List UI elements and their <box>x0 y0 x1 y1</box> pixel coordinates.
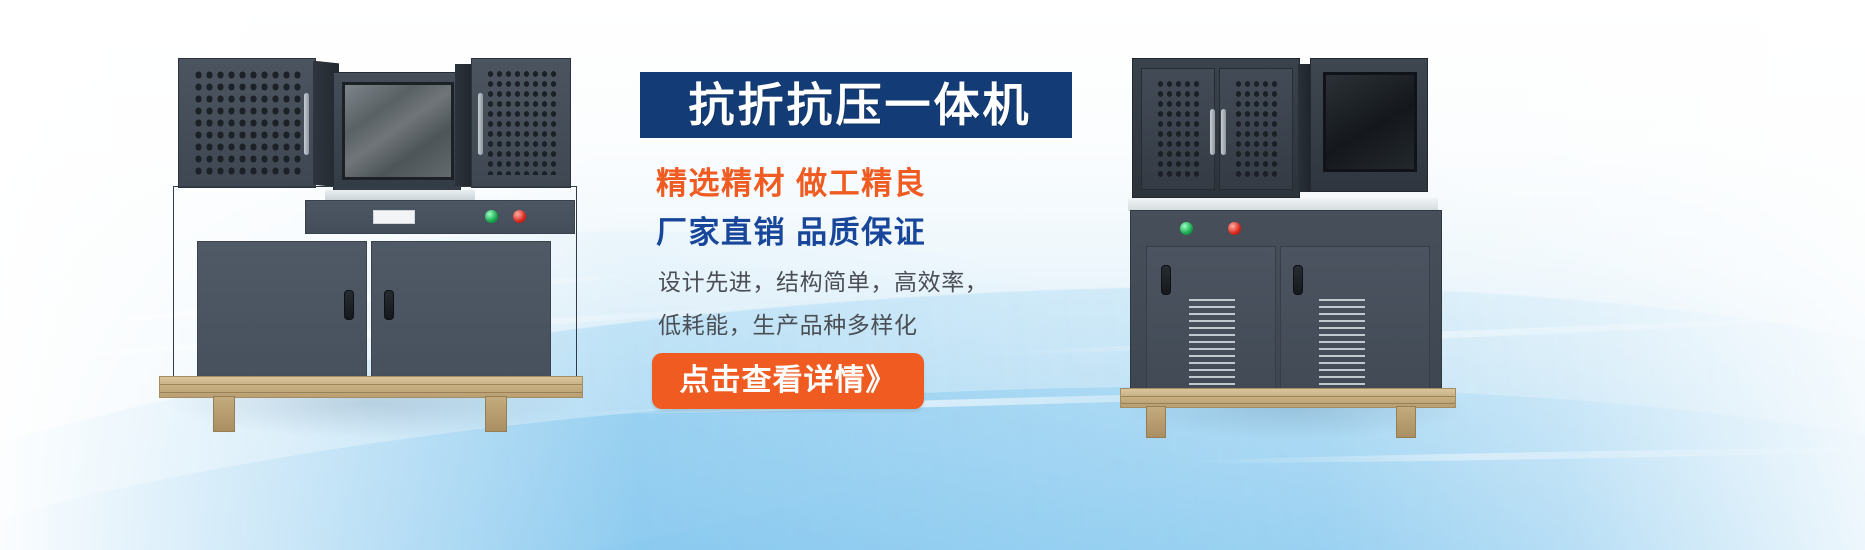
door-handle <box>1161 265 1171 295</box>
panel-label <box>373 210 415 224</box>
cabinet-handle <box>478 93 483 155</box>
lower-door-right <box>371 241 551 379</box>
pallet-leg <box>1146 406 1166 438</box>
cabinet-handle <box>304 93 309 155</box>
lower-cabinet-right <box>1280 246 1430 392</box>
perforated-panel <box>193 69 301 175</box>
right-upper-cabinet <box>471 58 571 188</box>
wooden-pallet-top <box>159 376 583 398</box>
monitor-housing <box>333 72 461 194</box>
pallet-seam <box>160 384 582 385</box>
red-indicator-lamp <box>513 210 526 223</box>
door-handle <box>1293 265 1303 295</box>
headline-blue: 厂家直销 品质保证 <box>656 207 1156 252</box>
cabinet-handle <box>1210 109 1215 155</box>
perforated-panel <box>486 69 556 175</box>
lower-cabinet-left <box>1146 246 1276 392</box>
green-indicator-lamp <box>1180 222 1193 235</box>
left-upper-cabinet <box>178 58 316 188</box>
promo-banner: 抗折抗压一体机 精选精材 做工精良 厂家直销 品质保证 设计先进，结构简单，高效… <box>0 0 1865 550</box>
view-details-button[interactable]: 点击查看详情》 <box>652 353 924 409</box>
pallet-leg <box>1396 406 1416 438</box>
pallet-leg <box>485 396 507 432</box>
copy-block: 抗折抗压一体机 精选精材 做工精良 厂家直销 品质保证 设计先进，结构简单，高效… <box>620 58 1180 478</box>
pallet-seam <box>1121 396 1455 397</box>
upper-double-door-cabinet <box>1132 58 1300 198</box>
pallet-seam <box>160 392 582 393</box>
green-indicator-lamp <box>485 210 498 223</box>
upper-door-right <box>1219 68 1293 190</box>
control-panel-strip <box>305 200 575 234</box>
monitor-screen <box>342 82 454 180</box>
page-title: 抗折抗压一体机 <box>655 76 1065 138</box>
product-image-right <box>1120 40 1520 440</box>
door-handle <box>344 290 354 320</box>
body-text-line-1: 设计先进，结构简单，高效率， <box>658 263 988 297</box>
door-handle <box>384 290 394 320</box>
product-image-left <box>155 38 595 438</box>
body-text-line-2: 低耗能，生产品种多样化 <box>658 306 918 340</box>
ventilation-louvers <box>1319 299 1365 387</box>
perforated-panel <box>1234 79 1278 177</box>
cabinet-handle <box>1221 109 1226 155</box>
wooden-pallet-top <box>1120 388 1456 408</box>
monitor-screen <box>1323 72 1417 172</box>
pallet-seam <box>1121 403 1455 404</box>
lower-door-left <box>197 241 367 379</box>
headline-orange: 精选精材 做工精良 <box>656 158 1156 203</box>
perforated-panel <box>1156 79 1200 177</box>
ventilation-louvers <box>1189 299 1235 387</box>
red-indicator-lamp <box>1228 222 1241 235</box>
pallet-leg <box>213 396 235 432</box>
upper-door-left <box>1141 68 1215 190</box>
monitor-housing <box>1310 58 1428 192</box>
